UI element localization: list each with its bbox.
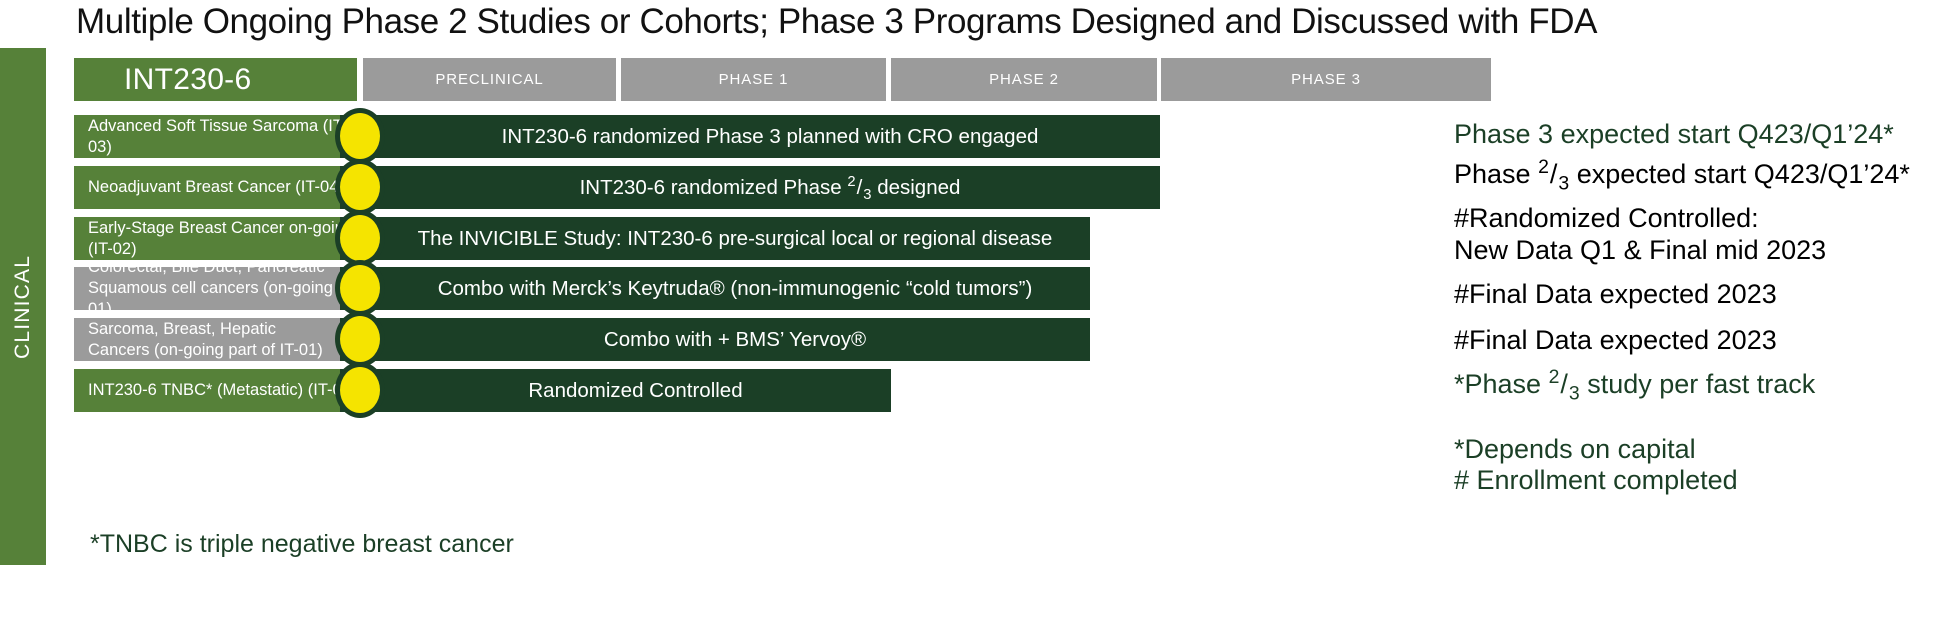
program-label[interactable]: Advanced Soft Tissue Sarcoma (IT-03): [74, 115, 362, 158]
footnote-tnbc: *TNBC is triple negative breast cancer: [90, 530, 514, 559]
program-bar[interactable]: Randomized Controlled: [340, 369, 891, 412]
program-bar-text: Combo with Merck’s Keytruda® (non-immuno…: [438, 277, 1033, 301]
milestone-dot-icon[interactable]: [335, 362, 385, 418]
program-label[interactable]: Colorectal, Bile Duct, Pancreatic Squamo…: [74, 267, 362, 310]
note-depends-on-capital: *Depends on capital: [1454, 433, 1696, 466]
program-bar-text: The INVICIBLE Study: INT230-6 pre-surgic…: [418, 227, 1053, 251]
program-label[interactable]: Sarcoma, Breast, Hepatic Cancers (on-goi…: [74, 318, 362, 361]
program-label[interactable]: Neoadjuvant Breast Cancer (IT-04): [74, 166, 362, 209]
program-label-line: Sarcoma, Breast, Hepatic: [88, 319, 362, 340]
program-bar-text: INT230-6 randomized Phase 2/3 designed: [580, 176, 961, 200]
milestone-dot-icon[interactable]: [335, 210, 385, 266]
program-bar-text: Combo with + BMS’ Yervoy®: [604, 328, 866, 352]
program-label-line: Neoadjuvant Breast Cancer (IT-04): [88, 177, 362, 198]
program-bar[interactable]: The INVICIBLE Study: INT230-6 pre-surgic…: [340, 217, 1090, 260]
milestone-dot-icon[interactable]: [335, 311, 385, 367]
milestone-dot-icon[interactable]: [335, 108, 385, 164]
milestone-dot-icon[interactable]: [335, 260, 385, 316]
note-phase23-start: Phase 2/3 expected start Q423/Q1’24*: [1454, 158, 1910, 191]
milestone-dot-icon[interactable]: [335, 159, 385, 215]
header-brand-int230-6: INT230-6: [74, 58, 357, 101]
note-final-data-2: #Final Data expected 2023: [1454, 324, 1777, 357]
program-label-line: Cancers (on-going part of IT-01): [88, 340, 362, 361]
page-title: Multiple Ongoing Phase 2 Studies or Coho…: [76, 2, 1876, 42]
program-label[interactable]: Early-Stage Breast Cancer on-going (IT-0…: [74, 217, 362, 260]
header-phase-1: PHASE 1: [621, 58, 886, 101]
header-phase-preclinical: PRECLINICAL: [363, 58, 616, 101]
note-fast-track: *Phase 2/3 study per fast track: [1454, 368, 1815, 401]
header-phase-2: PHASE 2: [891, 58, 1157, 101]
header-phase-3: PHASE 3: [1161, 58, 1491, 101]
note-enrollment-completed: # Enrollment completed: [1454, 464, 1738, 497]
program-bar[interactable]: Combo with Merck’s Keytruda® (non-immuno…: [340, 267, 1090, 310]
program-bar-text: INT230-6 randomized Phase 3 planned with…: [502, 125, 1039, 149]
program-label-line: Squamous cell cancers (on-going IT-01): [88, 278, 362, 320]
program-label-line: Advanced Soft Tissue Sarcoma (IT-03): [88, 116, 362, 158]
note-new-data: New Data Q1 & Final mid 2023: [1454, 234, 1826, 267]
program-label-line: INT230-6 TNBC* (Metastatic) (IT-05): [88, 380, 362, 401]
program-bar-text: Randomized Controlled: [528, 379, 742, 403]
program-label-line: Colorectal, Bile Duct, Pancreatic: [88, 257, 362, 278]
clinical-sidebar-label: CLINICAL: [0, 48, 46, 565]
note-final-data-1: #Final Data expected 2023: [1454, 278, 1777, 311]
program-label-line: Early-Stage Breast Cancer on-going (IT-0…: [88, 218, 362, 260]
note-phase3-start: Phase 3 expected start Q423/Q1’24*: [1454, 118, 1894, 151]
program-bar[interactable]: INT230-6 randomized Phase 3 planned with…: [340, 115, 1160, 158]
program-bar[interactable]: Combo with + BMS’ Yervoy®: [340, 318, 1090, 361]
note-randomized-controlled: #Randomized Controlled:: [1454, 202, 1759, 235]
program-bar[interactable]: INT230-6 randomized Phase 2/3 designed: [340, 166, 1160, 209]
program-label[interactable]: INT230-6 TNBC* (Metastatic) (IT-05): [74, 369, 362, 412]
